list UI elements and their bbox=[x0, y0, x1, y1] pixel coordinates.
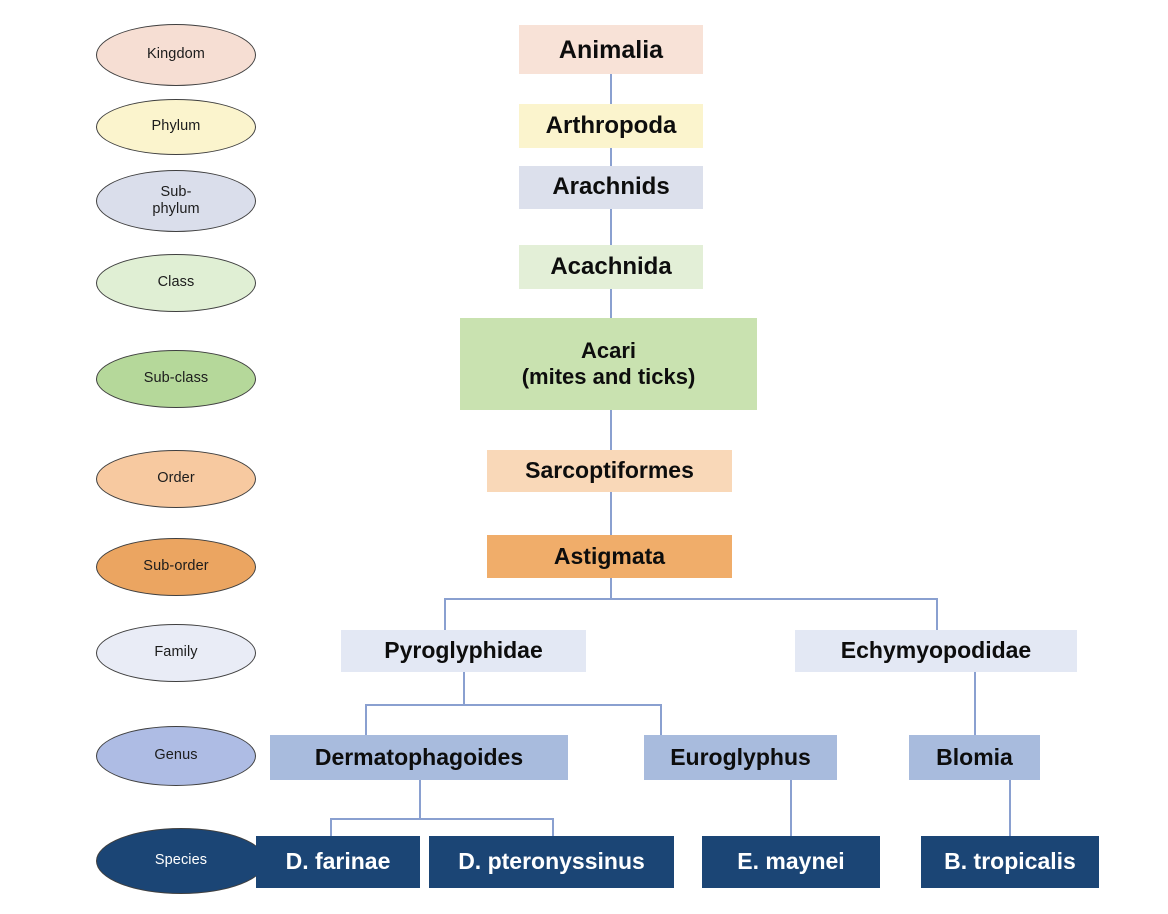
taxon-box-euroglyphus: Euroglyphus bbox=[644, 735, 837, 780]
connector-euroglyphus-to-e-maynei bbox=[790, 780, 792, 836]
connector-acari-to-sarcoptiformes bbox=[610, 410, 612, 450]
connector-species-split-bar-to-d-pteronyssinus bbox=[552, 818, 554, 836]
taxon-box-sarcoptiformes: Sarcoptiformes bbox=[487, 450, 732, 492]
connector-sarcoptiformes-to-astigmata bbox=[610, 492, 612, 535]
connector-animalia-to-arthropoda bbox=[610, 74, 612, 104]
connector-arachnids-to-acachnida bbox=[610, 209, 612, 245]
taxon-box-acachnida: Acachnida bbox=[519, 245, 703, 289]
rank-ellipse-species: Species bbox=[96, 828, 266, 894]
connector-pyroglyphidae-to-genus-split-bar bbox=[463, 672, 465, 704]
taxon-box-e-maynei: E. maynei bbox=[702, 836, 880, 888]
taxon-box-d-farinae: D. farinae bbox=[256, 836, 420, 888]
connector-dermatophagoides-to-species-split-bar bbox=[419, 780, 421, 818]
rank-ellipse-genus: Genus bbox=[96, 726, 256, 786]
taxon-box-arthropoda: Arthropoda bbox=[519, 104, 703, 148]
rank-ellipse-order: Order bbox=[96, 450, 256, 508]
connector-family-split-bar-to-pyroglyphidae bbox=[444, 598, 446, 630]
connector-family-split-bar-to-echymyopodidae bbox=[936, 598, 938, 630]
connector-species-split-bar bbox=[330, 818, 553, 820]
rank-ellipse-sub-class: Sub-class bbox=[96, 350, 256, 408]
connector-family-split-bar bbox=[444, 598, 937, 600]
rank-ellipse-sub-order: Sub-order bbox=[96, 538, 256, 596]
taxon-box-astigmata: Astigmata bbox=[487, 535, 732, 578]
connector-acachnida-to-acari bbox=[610, 289, 612, 318]
connector-blomia-to-b-tropicalis bbox=[1009, 780, 1011, 836]
connector-genus-split-bar bbox=[365, 704, 661, 706]
connector-astigmata-to-family-split-bar bbox=[610, 578, 612, 598]
taxon-box-blomia: Blomia bbox=[909, 735, 1040, 780]
taxon-box-b-tropicalis: B. tropicalis bbox=[921, 836, 1099, 888]
connector-species-split-bar-to-d-farinae bbox=[330, 818, 332, 836]
rank-ellipse-class: Class bbox=[96, 254, 256, 312]
rank-ellipse-sub-phylum: Sub- phylum bbox=[96, 170, 256, 232]
taxon-box-animalia: Animalia bbox=[519, 25, 703, 74]
taxon-box-pyroglyphidae: Pyroglyphidae bbox=[341, 630, 586, 672]
taxon-box-arachnids: Arachnids bbox=[519, 166, 703, 209]
rank-ellipse-family: Family bbox=[96, 624, 256, 682]
connector-echymyopodidae-to-blomia bbox=[974, 672, 976, 735]
taxon-box-acari: Acari (mites and ticks) bbox=[460, 318, 757, 410]
taxon-box-echymyopodidae: Echymyopodidae bbox=[795, 630, 1077, 672]
taxon-box-d-pteronyssinus: D. pteronyssinus bbox=[429, 836, 674, 888]
taxon-box-dermatophagoides: Dermatophagoides bbox=[270, 735, 568, 780]
connector-arthropoda-to-arachnids bbox=[610, 148, 612, 166]
connector-genus-split-bar-to-dermatophagoides bbox=[365, 704, 367, 735]
rank-ellipse-phylum: Phylum bbox=[96, 99, 256, 155]
rank-ellipse-kingdom: Kingdom bbox=[96, 24, 256, 86]
taxonomy-diagram: KingdomPhylumSub- phylumClassSub-classOr… bbox=[0, 0, 1168, 914]
connector-genus-split-bar-to-euroglyphus bbox=[660, 704, 662, 735]
